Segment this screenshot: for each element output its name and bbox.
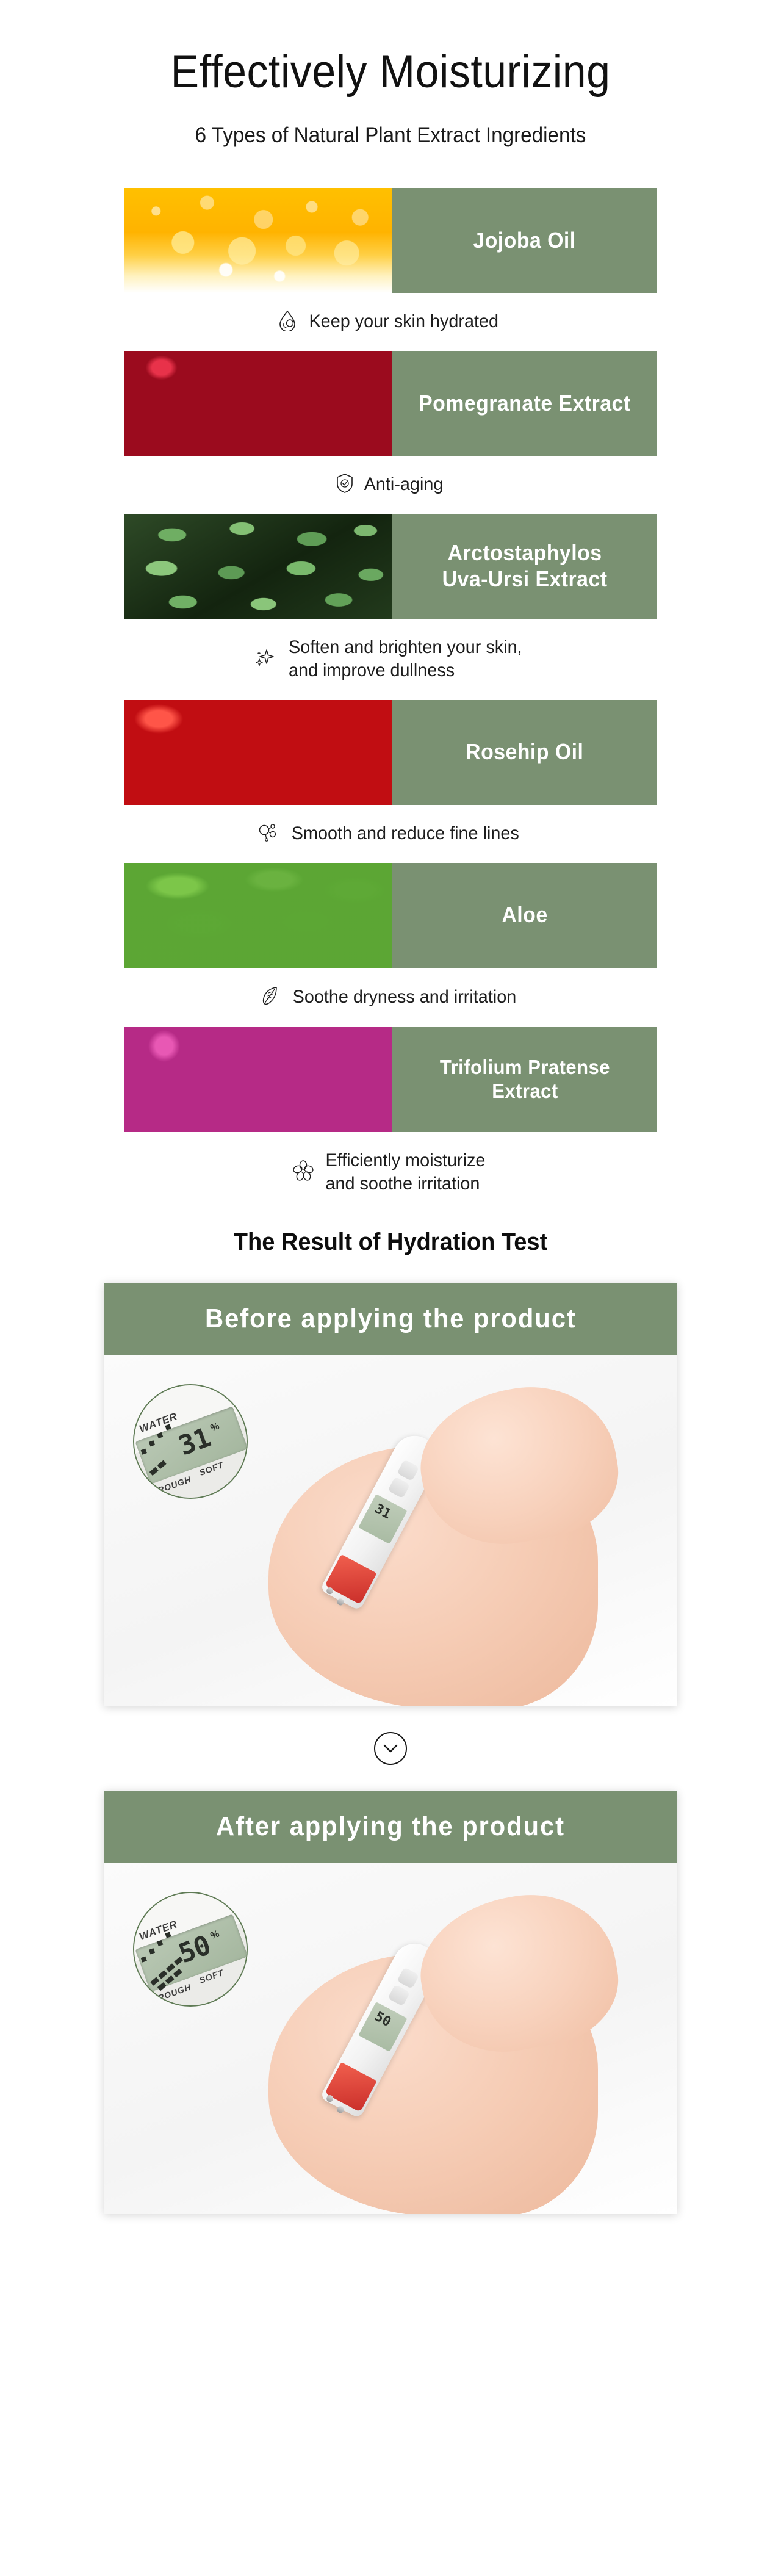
shield-check-icon: [336, 473, 354, 497]
ingredient-name: Aloe: [502, 902, 547, 928]
ingredient-benefit-text: Smooth and reduce fine lines: [291, 822, 519, 845]
ingredient-item-aloe: Aloe Soothe dryness and irritation: [0, 863, 781, 1027]
product-detail-page: Effectively Moisturizing 6 Types of Natu…: [0, 0, 781, 2576]
ingredient-item-arctostaphylos-uva-ursi-extract: Arctostaphylos Uva-Ursi Extract Soften a…: [0, 514, 781, 700]
ingredient-benefit-text: Soften and brighten your skin, and impro…: [289, 636, 522, 683]
ingredient-benefit-text: Keep your skin hydrated: [309, 310, 499, 333]
test-banner-label: After applying the product: [216, 1811, 565, 1842]
ingredient-name-banner: Trifolium Pratense Extract: [392, 1027, 657, 1132]
ingredient-item-rosehip-oil: Rosehip Oil Smooth and reduce fine lines: [0, 700, 781, 863]
page-title: Effectively Moisturizing: [31, 48, 750, 96]
ingredient-benefit-line1: Soften and brighten your skin,: [289, 637, 522, 657]
ingredient-item-pomegranate-extract: Pomegranate Extract Anti-aging: [0, 351, 781, 514]
ingredient-card: Arctostaphylos Uva-Ursi Extract: [124, 514, 657, 619]
aloe-photo: [124, 863, 392, 968]
ingredient-name-banner: Rosehip Oil: [392, 700, 657, 805]
ingredient-name-line2: Uva-Ursi Extract: [442, 566, 608, 591]
ingredient-card: Jojoba Oil: [124, 188, 657, 293]
rosehip-photo: [124, 700, 392, 805]
ingredient-name-banner: Arctostaphylos Uva-Ursi Extract: [392, 514, 657, 619]
ingredient-benefit-line1: Efficiently moisturize: [325, 1150, 485, 1171]
jojoba-oil-photo: [124, 188, 392, 293]
device-power-button: [387, 1477, 410, 1499]
ingredient-benefit-text: Soothe dryness and irritation: [293, 986, 517, 1009]
section-divider: [0, 1706, 781, 1791]
ingredient-card: Trifolium Pratense Extract: [124, 1027, 657, 1132]
ingredient-benefit-line2: and improve dullness: [289, 660, 455, 680]
ingredient-name: Jojoba Oil: [473, 228, 576, 253]
ingredient-benefit: Soften and brighten your skin, and impro…: [0, 619, 781, 700]
hero-section: Effectively Moisturizing 6 Types of Natu…: [0, 0, 781, 148]
ingredient-benefit: Soothe dryness and irritation: [0, 968, 781, 1027]
hydration-test-card-after: After applying the product 50: [104, 1791, 677, 2214]
hydration-test-card-before: Before applying the product 31: [104, 1283, 677, 1706]
ingredient-name: Trifolium Pratense Extract: [439, 1056, 610, 1103]
device-power-button: [387, 1985, 410, 2007]
ingredient-card: Aloe: [124, 863, 657, 968]
ingredient-name-line1: Trifolium Pratense: [439, 1056, 610, 1078]
ingredient-benefit: Efficiently moisturize and soothe irrita…: [0, 1132, 781, 1213]
ingredient-name-banner: Jojoba Oil: [392, 188, 657, 293]
test-banner-before: Before applying the product: [104, 1283, 677, 1355]
ingredient-name-banner: Pomegranate Extract: [392, 351, 657, 456]
ingredient-benefit: Anti-aging: [0, 456, 781, 514]
ingredient-list: Jojoba Oil Keep your skin hydrated: [0, 188, 781, 1213]
ingredient-item-trifolium-pratense-extract: Trifolium Pratense Extract Eff: [0, 1027, 781, 1213]
meter-magnifier-after: WATER 50 % ROUGH SOFT: [133, 1892, 248, 2007]
test-banner-after: After applying the product: [104, 1791, 677, 1863]
test-banner-label: Before applying the product: [205, 1304, 577, 1334]
ingredient-benefit-text: Anti-aging: [364, 473, 444, 496]
ingredient-card: Rosehip Oil: [124, 700, 657, 805]
device-up-button: [397, 1967, 419, 1989]
chevron-down-icon: [374, 1732, 407, 1765]
water-drop-icon: [278, 310, 297, 334]
ingredient-name-banner: Aloe: [392, 863, 657, 968]
pomegranate-photo: [124, 351, 392, 456]
ingredient-item-jojoba-oil: Jojoba Oil Keep your skin hydrated: [0, 188, 781, 351]
ingredient-card: Pomegranate Extract: [124, 351, 657, 456]
molecule-icon: [257, 822, 278, 846]
ingredient-name-line1: Arctostaphylos: [448, 540, 602, 565]
ingredient-benefit: Keep your skin hydrated: [0, 293, 781, 351]
ingredient-name: Pomegranate Extract: [419, 391, 630, 416]
hydration-test-title: The Result of Hydration Test: [20, 1216, 761, 1283]
feather-icon: [260, 985, 279, 1010]
before-hydration-photo: 31: [104, 1355, 677, 1706]
hydration-test-section: The Result of Hydration Test Before appl…: [0, 1216, 781, 2214]
bearberry-leaves-photo: [124, 514, 392, 619]
flower-icon: [293, 1160, 314, 1185]
ingredient-name: Arctostaphylos Uva-Ursi Extract: [442, 540, 608, 592]
ingredient-benefit: Smooth and reduce fine lines: [0, 805, 781, 863]
ingredient-name-line2: Extract: [492, 1080, 558, 1102]
device-up-button: [397, 1459, 419, 1481]
sparkle-icon: [254, 647, 275, 672]
red-clover-photo: [124, 1027, 392, 1132]
ingredient-name: Rosehip Oil: [466, 739, 583, 765]
ingredient-benefit-line2: and soothe irritation: [325, 1174, 480, 1194]
after-hydration-photo: 50: [104, 1863, 677, 2214]
page-subtitle: 6 Types of Natural Plant Extract Ingredi…: [20, 123, 761, 148]
ingredient-benefit-text: Efficiently moisturize and soothe irrita…: [325, 1149, 485, 1196]
meter-magnifier-before: WATER 31 % ROUGH SOFT: [133, 1384, 248, 1499]
